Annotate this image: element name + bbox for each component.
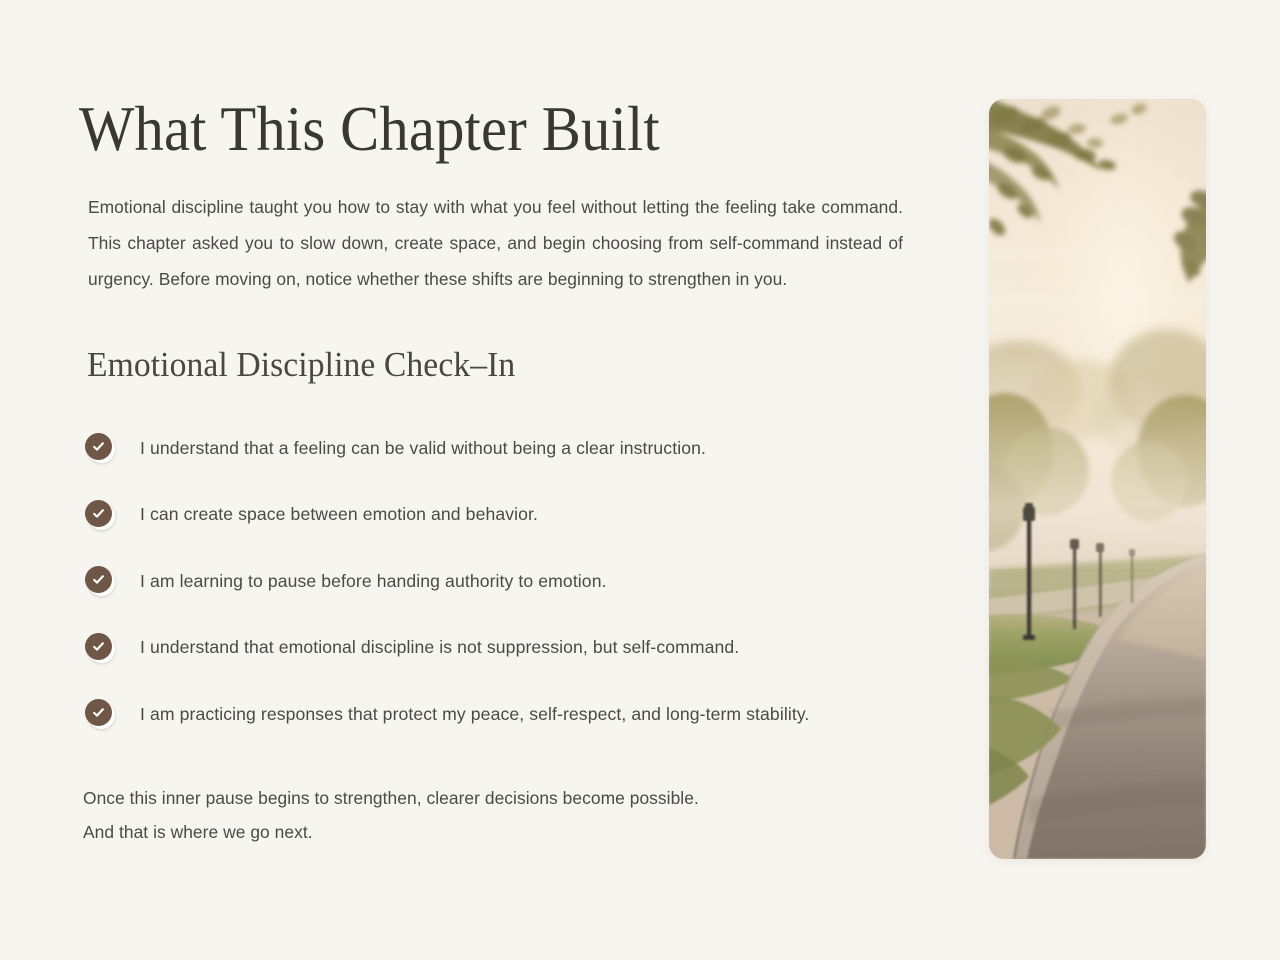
list-item[interactable]: I understand that a feeling can be valid… <box>82 415 912 482</box>
intro-paragraph: Emotional discipline taught you how to s… <box>88 189 903 297</box>
closing-block: Once this inner pause begins to strength… <box>83 781 912 849</box>
check-circle-icon[interactable] <box>85 633 115 663</box>
content-column: What This Chapter Built Emotional discip… <box>82 96 912 849</box>
list-item-label: I understand that emotional discipline i… <box>140 636 739 659</box>
list-item-label: I understand that a feeling can be valid… <box>140 437 706 460</box>
page-title: What This Chapter Built <box>79 96 854 163</box>
list-item[interactable]: I understand that emotional discipline i… <box>82 614 912 681</box>
list-item[interactable]: I can create space between emotion and b… <box>82 481 912 548</box>
section-heading: Emotional Discipline Check–In <box>87 345 879 385</box>
slide-root: What This Chapter Built Emotional discip… <box>0 0 1280 960</box>
closing-line-1: Once this inner pause begins to strength… <box>83 781 912 815</box>
list-item[interactable]: I am learning to pause before handing au… <box>82 548 912 615</box>
list-item-label: I am learning to pause before handing au… <box>140 570 607 593</box>
list-item[interactable]: I am practicing responses that protect m… <box>82 681 912 748</box>
check-circle-icon[interactable] <box>85 433 115 463</box>
check-circle-icon[interactable] <box>85 500 115 530</box>
misty-park-path-photo <box>989 99 1206 859</box>
closing-line-2: And that is where we go next. <box>83 815 912 849</box>
list-item-label: I am practicing responses that protect m… <box>140 703 809 726</box>
checklist: I understand that a feeling can be valid… <box>82 415 912 748</box>
list-item-label: I can create space between emotion and b… <box>140 503 538 526</box>
check-circle-icon[interactable] <box>85 699 115 729</box>
check-circle-icon[interactable] <box>85 566 115 596</box>
